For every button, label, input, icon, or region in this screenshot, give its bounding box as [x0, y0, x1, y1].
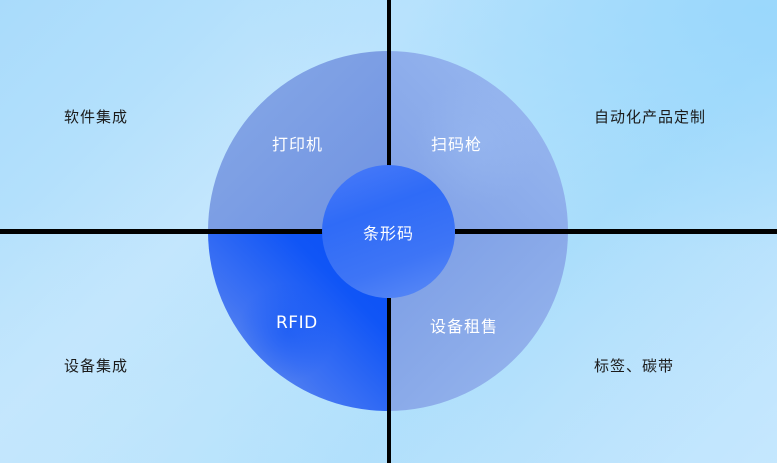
corner-label-equipment-integration: 设备集成	[64, 355, 128, 376]
corner-label-automation-customizing: 自动化产品定制	[594, 106, 706, 127]
inner-circle: 条形码	[322, 165, 455, 298]
inner-circle-label: 条形码	[363, 220, 414, 244]
corner-label-labels-and-ribbons: 标签、碳带	[594, 355, 674, 376]
ring-label-equipment-rental: 设备租售	[430, 313, 498, 337]
ring-label-rfid: RFID	[276, 313, 318, 333]
divider-horizontal-left	[0, 229, 323, 234]
diagram-canvas: 条形码 打印机 扫码枪 RFID 设备租售 软件集成 自动化产品定制 设备集成 …	[0, 0, 777, 463]
divider-vertical-bottom	[387, 298, 391, 463]
ring-label-printer: 打印机	[272, 131, 323, 155]
divider-horizontal-right	[455, 229, 777, 234]
corner-label-software-integration: 软件集成	[64, 106, 128, 127]
ring-label-scanner: 扫码枪	[431, 131, 482, 155]
divider-vertical-top	[387, 0, 391, 166]
